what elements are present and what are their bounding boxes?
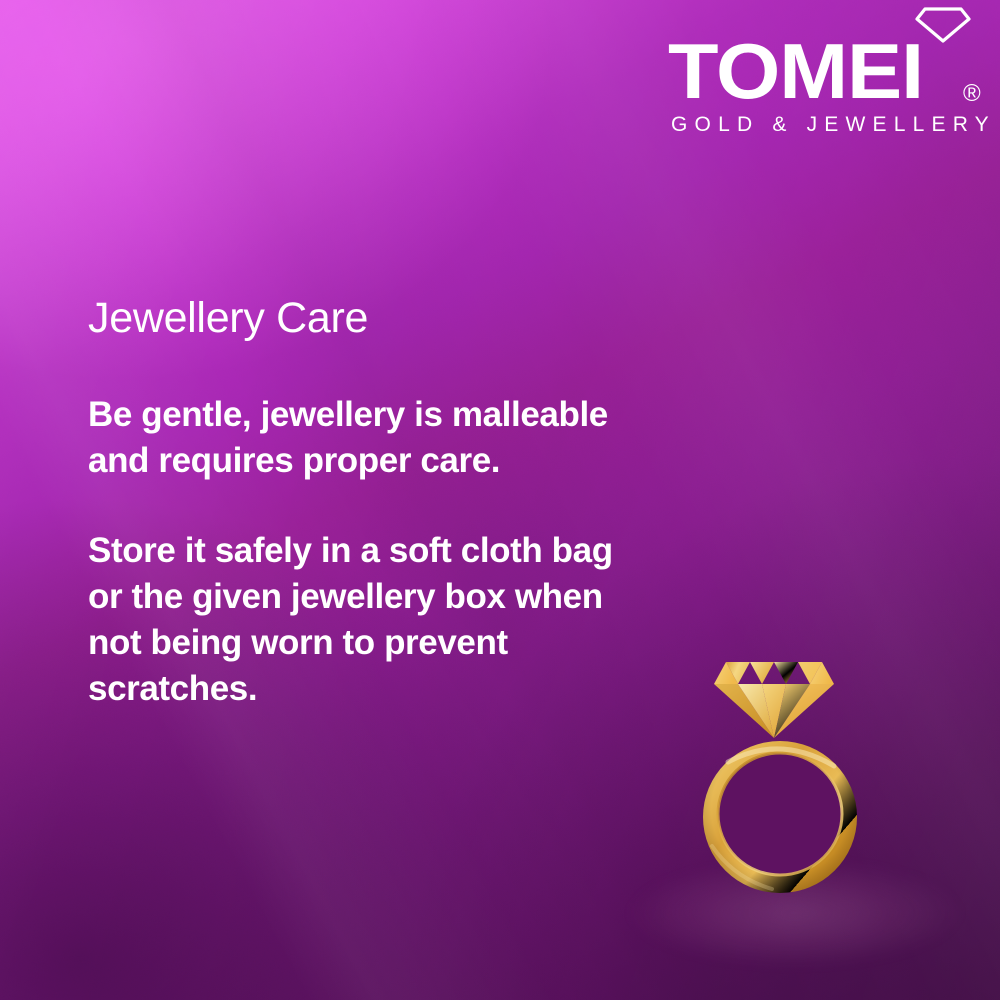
diamond-gem-icon — [714, 662, 834, 738]
gold-diamond-ring-illustration — [694, 650, 872, 900]
jewellery-care-poster: TOMEI ® GOLD & JEWELLERY Jewellery Care … — [0, 0, 1000, 1000]
ring-band-icon — [703, 741, 857, 893]
care-paragraph-2: Store it safely in a soft cloth bag or t… — [88, 528, 648, 712]
page-title: Jewellery Care — [88, 292, 648, 344]
tomei-logo[interactable]: TOMEI ® GOLD & JEWELLERY — [668, 6, 988, 138]
care-copy-block: Jewellery Care Be gentle, jewellery is m… — [88, 292, 648, 712]
brand-tagline: GOLD & JEWELLERY — [671, 114, 996, 136]
care-paragraph-1: Be gentle, jewellery is malleable and re… — [88, 392, 648, 484]
registered-trademark-symbol: ® — [963, 82, 981, 106]
brand-wordmark: TOMEI — [668, 32, 923, 110]
